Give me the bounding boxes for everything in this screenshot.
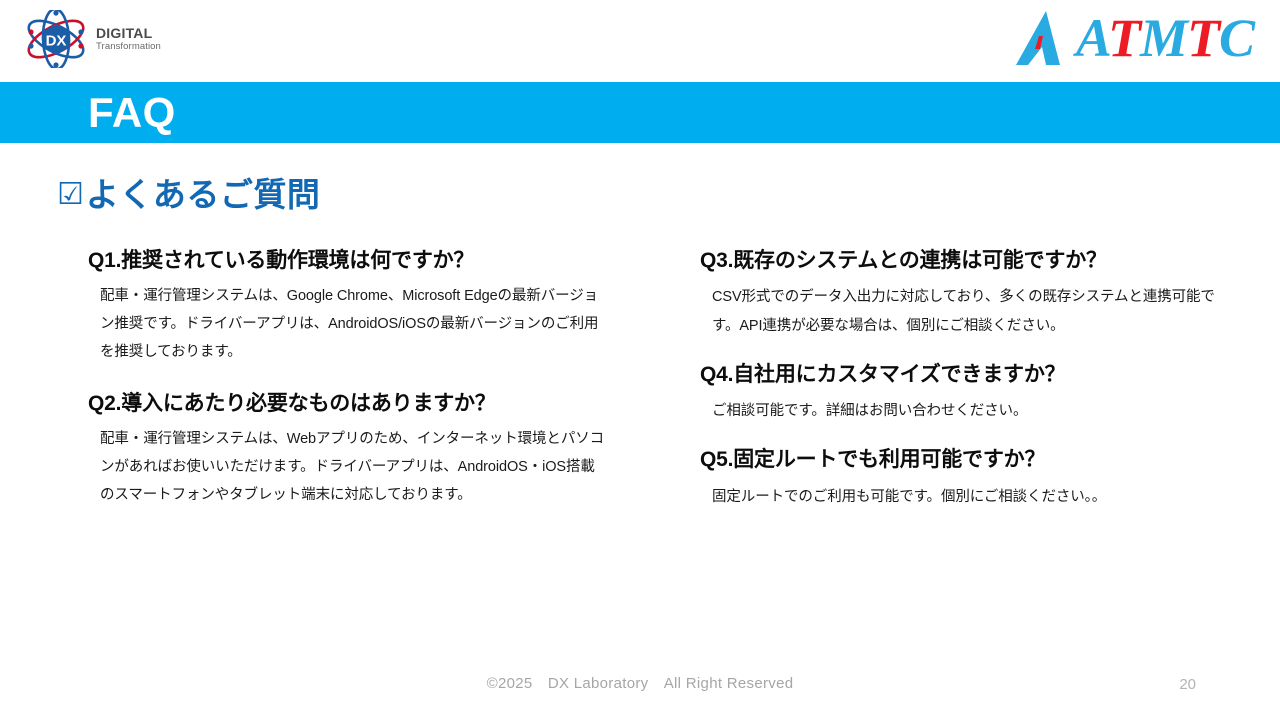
faq-column-left: Q1.推奨されている動作環境は何ですか？ 配車・運行管理システムは、Google…	[88, 248, 608, 528]
page-number: 20	[1179, 676, 1196, 693]
faq-question: Q1.推奨されている動作環境は何ですか？	[88, 248, 608, 274]
faq-item: Q1.推奨されている動作環境は何ですか？ 配車・運行管理システムは、Google…	[88, 248, 608, 367]
faq-question: Q3.既存のシステムとの連携は可能ですか？	[700, 248, 1220, 274]
faq-answer: 配車・運行管理システムは、Google Chrome、Microsoft Edg…	[88, 283, 608, 367]
atmtc-wordmark: ATMTC	[1076, 11, 1254, 65]
section-heading: ☑ よくあるご質問	[57, 178, 320, 211]
atmtc-a-mark-icon	[1016, 9, 1078, 67]
atmtc-logo: ATMTC	[1016, 6, 1254, 70]
dx-logo-line2: Transformation	[96, 42, 161, 52]
faq-column-right: Q3.既存のシステムとの連携は可能ですか？ CSV形式でのデータ入出力に対応して…	[700, 248, 1220, 529]
faq-question: Q5.固定ルートでも利用可能ですか？	[700, 447, 1220, 473]
title-band	[0, 82, 1280, 143]
dx-logo: DX DIGITAL Transformation	[22, 8, 182, 70]
faq-item: Q3.既存のシステムとの連携は可能ですか？ CSV形式でのデータ入出力に対応して…	[700, 248, 1220, 340]
faq-question: Q2.導入にあたり必要なものはありますか？	[88, 391, 608, 417]
slide-faq: DX DIGITAL Transformation ATMTC FAQ ☑ よく…	[0, 0, 1280, 720]
section-heading-label: よくあるご質問	[86, 178, 321, 211]
faq-item: Q4.自社用にカスタマイズできますか？ ご相談可能です。詳細はお問い合わせくださ…	[700, 362, 1220, 426]
faq-answer: ご相談可能です。詳細はお問い合わせください。	[700, 397, 1220, 425]
dx-logo-text: DIGITAL Transformation	[96, 26, 161, 52]
faq-item: Q5.固定ルートでも利用可能ですか？ 固定ルートでのご利用も可能です。個別にご相…	[700, 447, 1220, 511]
dx-logo-line1: DIGITAL	[96, 26, 161, 40]
faq-answer: 固定ルートでのご利用も可能です。個別にご相談ください。。	[700, 483, 1220, 511]
footer-copyright: ©2025 DX Laboratory All Right Reserved	[0, 672, 1280, 693]
faq-answer: CSV形式でのデータ入出力に対応しており、多くの既存システムと連携可能です。AP…	[700, 283, 1220, 340]
svg-text:DX: DX	[46, 33, 67, 50]
checkbox-checked-icon: ☑	[57, 180, 84, 210]
faq-answer: 配車・運行管理システムは、Webアプリのため、インターネット環境とパソコンがあれ…	[88, 426, 608, 510]
dx-atom-icon: DX	[22, 10, 90, 68]
slide-header: DX DIGITAL Transformation ATMTC	[0, 0, 1280, 82]
page-title: FAQ	[88, 88, 176, 138]
faq-question: Q4.自社用にカスタマイズできますか？	[700, 362, 1220, 388]
faq-item: Q2.導入にあたり必要なものはありますか？ 配車・運行管理システムは、Webアプ…	[88, 391, 608, 510]
